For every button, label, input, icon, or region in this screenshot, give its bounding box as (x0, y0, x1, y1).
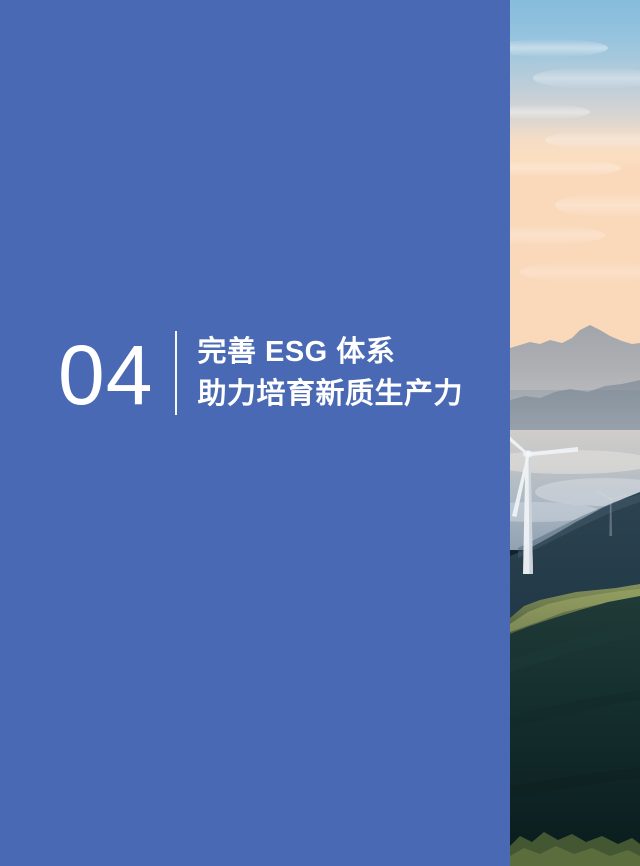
section-divider-line (175, 331, 177, 415)
section-title-group: 完善 ESG 体系 助力培育新质生产力 (197, 336, 463, 410)
wind-turbine-landscape-illustration (510, 0, 640, 866)
section-number: 04 (58, 333, 153, 417)
section-heading-block: 04 完善 ESG 体系 助力培育新质生产力 (58, 318, 498, 428)
blue-background-panel (0, 0, 510, 866)
section-title-line-2: 助力培育新质生产力 (197, 378, 463, 410)
decorative-photo-panel (510, 0, 640, 866)
slide-root: 04 完善 ESG 体系 助力培育新质生产力 (0, 0, 640, 866)
section-title-line-1: 完善 ESG 体系 (197, 336, 463, 368)
